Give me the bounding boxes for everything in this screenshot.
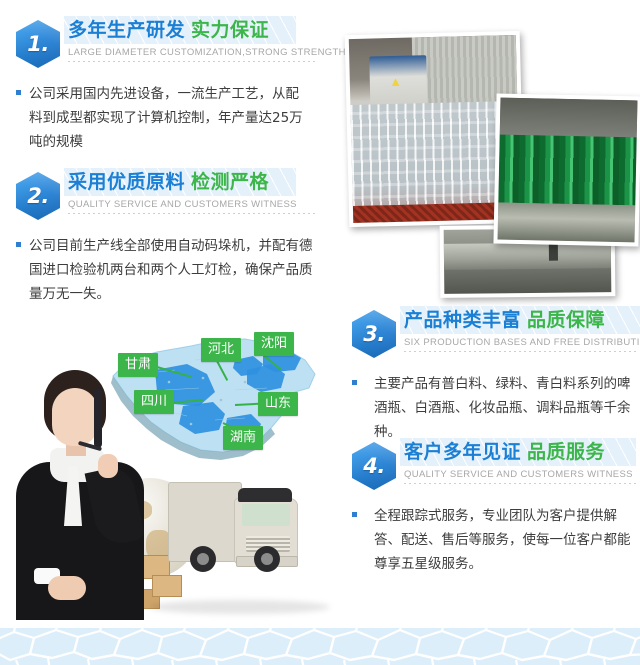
map-label-hunan[interactable]: 湖南 xyxy=(223,426,263,450)
section-1-title: 多年生产研发实力保证 xyxy=(68,18,316,45)
section-1-body: 公司采用国内先进设备，一流生产工艺，从配料到成型都实现了计算机控制，年产量达25… xyxy=(16,82,309,154)
section-1-number: 1. xyxy=(16,20,60,68)
section-1-body-text: 公司采用国内先进设备，一流生产工艺，从配料到成型都实现了计算机控制，年产量达25… xyxy=(29,82,309,154)
section-3-title: 产品种类丰富品质保障 xyxy=(404,308,637,335)
hexagon-badge-icon: 3. xyxy=(352,310,396,358)
section-4-subtitle: QUALITY SERVICE AND CUSTOMERS WITNESS xyxy=(404,469,637,480)
hexagon-badge-icon: 2. xyxy=(16,172,60,220)
bullet-icon xyxy=(16,90,21,95)
map-label-hebei[interactable]: 河北 xyxy=(201,338,241,362)
section-4-header: 4. 客户多年见证品质服务 QUALITY SERVICE AND CUSTOM… xyxy=(352,440,637,490)
section-3-subtitle: SIX PRODUCTION BASES AND FREE DISTRIBUTI… xyxy=(404,337,637,348)
section-2-divider xyxy=(68,213,316,214)
section-3-header: 3. 产品种类丰富品质保障 SIX PRODUCTION BASES AND F… xyxy=(352,308,637,358)
section-4-body-text: 全程跟踪式服务，专业团队为客户提供解答、配送、售后等服务，使每一位客户都能尊享五… xyxy=(374,504,636,576)
section-3-number: 3. xyxy=(352,310,396,358)
section-4-body: 全程跟踪式服务，专业团队为客户提供解答、配送、售后等服务，使每一位客户都能尊享五… xyxy=(352,504,636,576)
section-1-header: 1. 多年生产研发实力保证 LARGE DIAMETER CUSTOMIZATI… xyxy=(16,18,316,68)
section-2-body-text: 公司目前生产线全部使用自动码垛机，并配有德国进口检验机两台和两个人工灯检，确保产… xyxy=(29,234,314,306)
bottom-cell-pattern xyxy=(0,628,640,665)
section-1-title-green: 实力保证 xyxy=(191,20,269,41)
section-3: 3. 产品种类丰富品质保障 SIX PRODUCTION BASES AND F… xyxy=(352,308,637,444)
hexagon-badge-icon: 4. xyxy=(352,442,396,490)
section-2-title-green: 检测严格 xyxy=(191,172,269,193)
section-4: 4. 客户多年见证品质服务 QUALITY SERVICE AND CUSTOM… xyxy=(352,440,637,576)
section-4-title: 客户多年见证品质服务 xyxy=(404,440,637,467)
delivery-truck-graphic xyxy=(168,470,308,610)
section-4-title-green: 品质服务 xyxy=(527,442,605,463)
section-1-divider xyxy=(68,61,316,62)
bullet-icon xyxy=(352,380,357,385)
section-4-title-blue: 客户多年见证 xyxy=(404,442,521,463)
section-2-title-blue: 采用优质原料 xyxy=(68,172,185,193)
section-1: 1. 多年生产研发实力保证 LARGE DIAMETER CUSTOMIZATI… xyxy=(16,18,316,154)
section-2-body: 公司目前生产线全部使用自动码垛机，并配有德国进口检验机两台和两个人工灯检，确保产… xyxy=(16,234,314,306)
truck-shadow xyxy=(150,600,330,614)
hexagon-badge-icon: 1. xyxy=(16,20,60,68)
section-3-body: 主要产品有普白料、绿料、青白料系列的啤酒瓶、白酒瓶、化妆品瓶、调料品瓶等千余种。 xyxy=(352,372,636,444)
section-3-title-green: 品质保障 xyxy=(527,310,605,331)
section-2-subtitle: QUALITY SERVICE AND CUSTOMERS WITNESS xyxy=(68,199,316,210)
section-2: 2. 采用优质原料检测严格 QUALITY SERVICE AND CUSTOM… xyxy=(16,170,316,306)
section-3-title-blue: 产品种类丰富 xyxy=(404,310,521,331)
section-4-number: 4. xyxy=(352,442,396,490)
customer-service-agent-graphic xyxy=(6,370,151,620)
cell-pattern-svg xyxy=(0,628,640,665)
section-2-header: 2. 采用优质原料检测严格 QUALITY SERVICE AND CUSTOM… xyxy=(16,170,316,220)
bullet-icon xyxy=(16,242,21,247)
section-2-title: 采用优质原料检测严格 xyxy=(68,170,316,197)
section-1-subtitle: LARGE DIAMETER CUSTOMIZATION,STRONG STRE… xyxy=(68,47,316,58)
bullet-icon xyxy=(352,512,357,517)
map-label-shenyang[interactable]: 沈阳 xyxy=(254,332,294,356)
section-1-title-blue: 多年生产研发 xyxy=(68,20,185,41)
section-4-divider xyxy=(404,483,637,484)
promo-page: 1. 多年生产研发实力保证 LARGE DIAMETER CUSTOMIZATI… xyxy=(0,0,640,665)
section-2-number: 2. xyxy=(16,172,60,220)
section-3-divider xyxy=(404,351,637,352)
map-label-shandong[interactable]: 山东 xyxy=(258,392,298,416)
green-beer-bottle-conveyor-photo xyxy=(493,93,640,246)
section-3-body-text: 主要产品有普白料、绿料、青白料系列的啤酒瓶、白酒瓶、化妆品瓶、调料品瓶等千余种。 xyxy=(374,372,636,444)
